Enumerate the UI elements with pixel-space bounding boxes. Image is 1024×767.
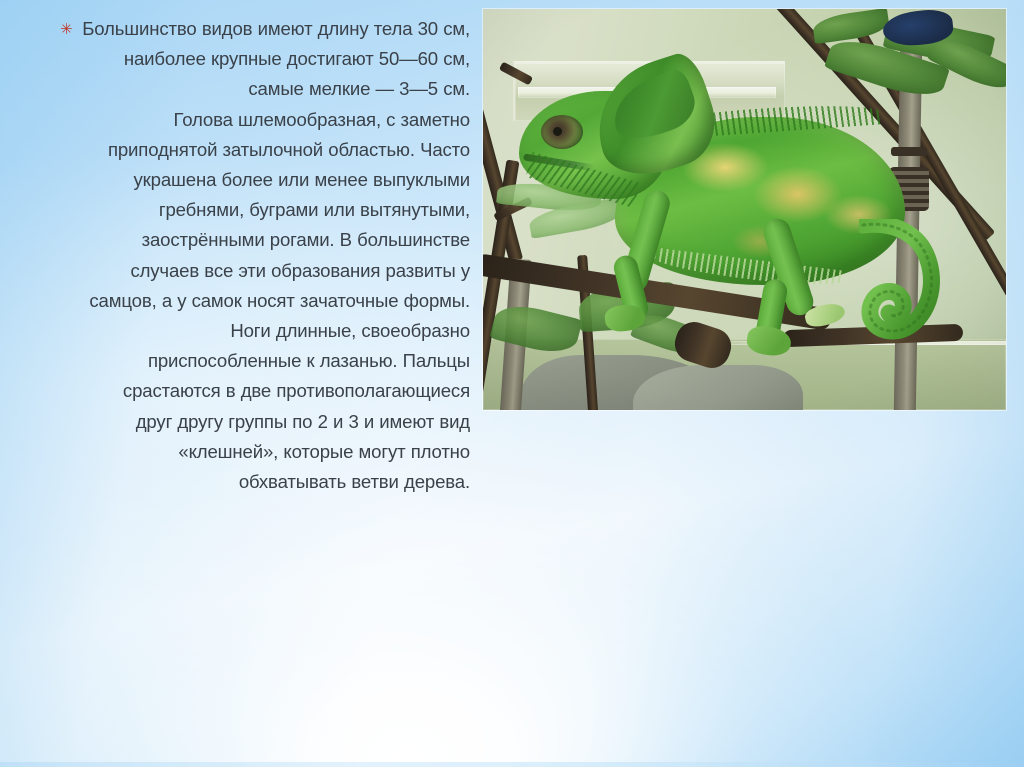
chameleon-tail: [859, 219, 967, 367]
chameleon-eye-pupil: [553, 127, 562, 136]
slide-bottom-edge: [0, 762, 1024, 767]
photo-canvas: [483, 9, 1006, 410]
chameleon-eye: [541, 115, 583, 149]
leaf-top-4: [812, 9, 891, 44]
post-band-upper: [891, 147, 927, 156]
asterisk-bullet-icon: ✳: [60, 14, 82, 42]
presentation-slide: ✳ Большинство видов имеют длину тела 30 …: [0, 0, 1024, 767]
body-paragraph: Большинство видов имеют длину тела 30 см…: [82, 14, 470, 497]
body-text-block: ✳ Большинство видов имеют длину тела 30 …: [60, 14, 470, 497]
chameleon-tail-svg: [859, 219, 967, 367]
chameleon-photo: [483, 9, 1006, 410]
